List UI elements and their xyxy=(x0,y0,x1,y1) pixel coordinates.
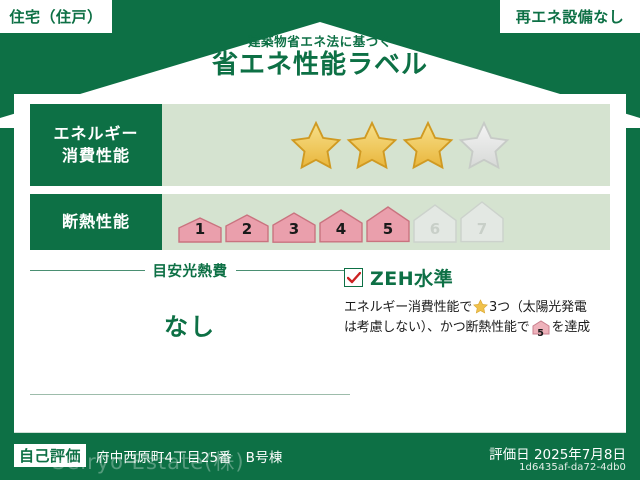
label-body-panel: エネルギー 消費性能 断熱性能 1234567 目安光熱費 なし xyxy=(14,94,626,432)
utility-cost-bottom-rule xyxy=(30,394,350,395)
check-icon xyxy=(347,272,361,284)
zeh-title-row: ZEH水準 xyxy=(344,264,610,291)
zeh-desc-part4: を達成 xyxy=(552,320,590,335)
label-title-block: 建築物省エネ法に基づく 省エネ性能ラベル xyxy=(0,34,640,81)
insulation-level-chip: 3 xyxy=(272,212,316,243)
insulation-performance-key: 断熱性能 xyxy=(30,194,162,250)
self-evaluation-badge: 自己評価 xyxy=(14,444,86,467)
insulation-level-chip: 6 xyxy=(413,204,457,243)
energy-performance-key: エネルギー 消費性能 xyxy=(30,104,162,186)
zeh-checkbox[interactable] xyxy=(344,268,363,287)
zeh-desc-level-chip: 5 xyxy=(532,320,550,342)
evaluation-date: 評価日 2025年7月8日 xyxy=(489,443,626,463)
energy-performance-key-line1: エネルギー xyxy=(53,123,138,145)
zeh-desc-part3: は考慮しない）、かつ断熱性能で xyxy=(344,320,530,335)
star-icon xyxy=(473,299,488,314)
star-icon-filled xyxy=(290,120,342,170)
evaluation-date-value: 2025年7月8日 xyxy=(534,447,626,463)
zeh-desc-level-chip-value: 5 xyxy=(532,327,550,342)
zeh-desc-part1: エネルギー消費性能で xyxy=(344,300,472,315)
insulation-performance-key-label: 断熱性能 xyxy=(62,211,130,233)
zeh-label: ZEH水準 xyxy=(370,264,453,291)
heading-rule-right xyxy=(236,270,351,271)
star-icon-filled xyxy=(402,120,454,170)
label-footer: 自己評価 府中西原町4丁目25番 B号棟 評価日 2025年7月8日 1d643… xyxy=(0,432,640,480)
heading-rule-left xyxy=(30,270,145,271)
utility-cost-heading-label: 目安光熱費 xyxy=(153,260,228,281)
insulation-level-chip: 4 xyxy=(319,209,363,243)
property-address: 府中西原町4丁目25番 B号棟 xyxy=(96,446,283,466)
insulation-performance-row: 断熱性能 1234567 xyxy=(30,194,610,250)
insulation-level-scale: 1234567 xyxy=(178,201,504,243)
energy-performance-row: エネルギー 消費性能 xyxy=(30,104,610,186)
energy-performance-label: 住宅（住戸） 再エネ設備なし 建築物省エネ法に基づく 省エネ性能ラベル エネルギ… xyxy=(0,0,640,480)
evaluation-date-label: 評価日 xyxy=(489,447,530,463)
utility-cost-heading: 目安光熱費 xyxy=(30,260,350,281)
insulation-performance-value: 1234567 xyxy=(162,194,610,250)
footer-divider xyxy=(14,432,626,433)
star-rating xyxy=(290,120,510,170)
evaluation-id: 1d6435af-da72-4db0 xyxy=(519,462,626,473)
page-title: 省エネ性能ラベル xyxy=(0,51,640,81)
zeh-block: ZEH水準 エネルギー消費性能で3つ（太陽光発電は考慮しない）、かつ断熱性能で5… xyxy=(344,264,610,342)
star-icon-empty xyxy=(458,120,510,170)
energy-performance-value xyxy=(162,104,610,186)
tag-renewable-energy-label: 再エネ設備なし xyxy=(516,6,625,27)
tag-building-type: 住宅（住戸） xyxy=(0,0,112,33)
label-subtitle: 建築物省エネ法に基づく xyxy=(0,34,640,49)
tag-building-type-label: 住宅（住戸） xyxy=(9,6,102,27)
insulation-level-chip: 1 xyxy=(178,217,222,243)
star-icon-filled xyxy=(346,120,398,170)
zeh-desc-part2: 3つ（太陽光発電 xyxy=(489,300,587,315)
zeh-description: エネルギー消費性能で3つ（太陽光発電は考慮しない）、かつ断熱性能で5を達成 xyxy=(344,298,610,342)
insulation-level-chip: 5 xyxy=(366,206,410,242)
utility-cost-block: 目安光熱費 なし xyxy=(30,260,350,342)
insulation-level-chip: 7 xyxy=(460,201,504,243)
tag-renewable-energy: 再エネ設備なし xyxy=(500,0,640,33)
utility-cost-value: なし xyxy=(30,307,350,342)
insulation-level-chip: 2 xyxy=(225,214,269,243)
energy-performance-key-line2: 消費性能 xyxy=(62,145,130,167)
